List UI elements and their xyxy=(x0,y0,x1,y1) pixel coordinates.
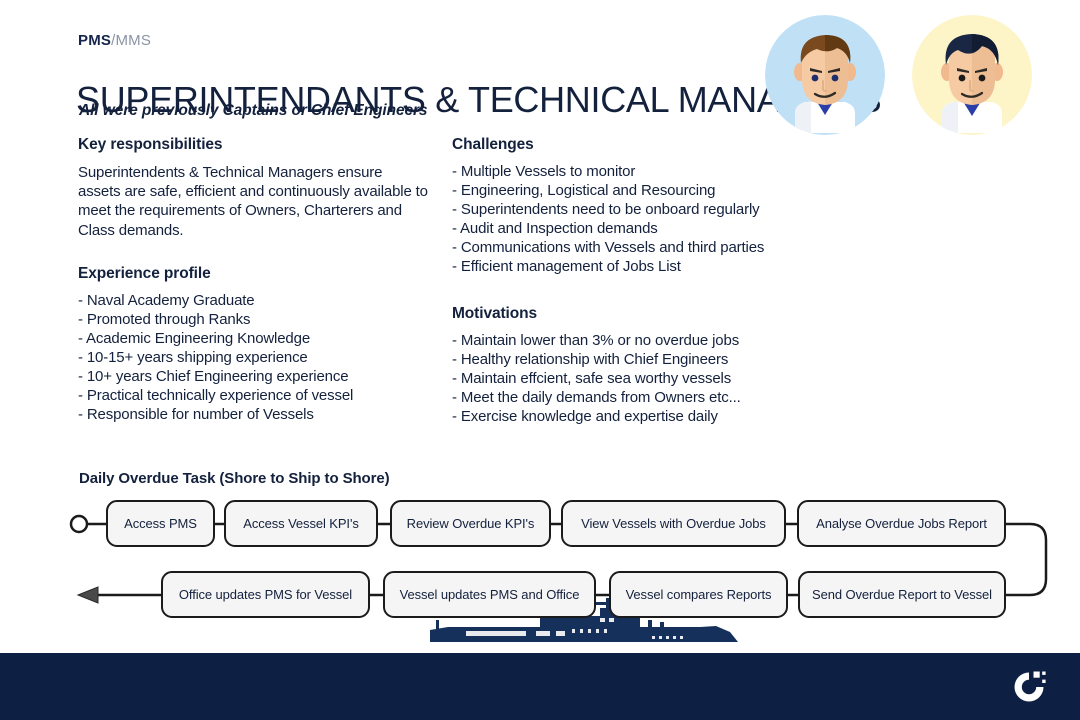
flow-node-analyse-overdue-report[interactable]: Analyse Overdue Jobs Report xyxy=(797,500,1006,547)
right-content-column: Challenges - Multiple Vessels to monitor… xyxy=(452,136,792,427)
experience-profile-heading: Experience profile xyxy=(78,265,428,283)
flow-node-office-updates-pms[interactable]: Office updates PMS for Vessel xyxy=(161,571,370,618)
flow-node-access-vessel-kpis[interactable]: Access Vessel KPI's xyxy=(224,500,378,547)
list-item: - Naval Academy Graduate xyxy=(78,292,428,311)
breadcrumb-mms: MMS xyxy=(115,32,151,49)
slide-root: PMS/MMS SUPERINTENDANTS & TECHNICAL MANA… xyxy=(0,0,1080,720)
list-item: - Practical technically experience of ve… xyxy=(78,387,428,406)
flow-node-vessel-compares[interactable]: Vessel compares Reports xyxy=(609,571,788,618)
list-item: - Promoted through Ranks xyxy=(78,311,428,330)
list-item: - Audit and Inspection demands xyxy=(452,220,792,239)
list-item: - 10-15+ years shipping experience xyxy=(78,349,428,368)
list-item: - Efficient management of Jobs List xyxy=(452,258,792,277)
flow-node-view-vessels-overdue[interactable]: View Vessels with Overdue Jobs xyxy=(561,500,786,547)
spacer xyxy=(452,277,792,305)
list-item: - Superintendents need to be onboard reg… xyxy=(452,201,792,220)
list-item: - Multiple Vessels to monitor xyxy=(452,163,792,182)
list-item: - Meet the daily demands from Owners etc… xyxy=(452,389,792,408)
footer-bar xyxy=(0,653,1080,720)
flow-node-access-pms[interactable]: Access PMS xyxy=(106,500,215,547)
flow-diagram-title: Daily Overdue Task (Shore to Ship to Sho… xyxy=(79,470,389,487)
page-subtitle: All were previously Captains or Chief En… xyxy=(79,102,427,120)
left-content-column: Key responsibilities Superintendents & T… xyxy=(78,136,428,425)
flow-node-vessel-updates-pms[interactable]: Vessel updates PMS and Office xyxy=(383,571,596,618)
flow-end-arrow xyxy=(78,587,98,603)
list-item: - Communications with Vessels and third … xyxy=(452,239,792,258)
list-item: - Maintain effcient, safe sea worthy ves… xyxy=(452,370,792,389)
avatar-graphic xyxy=(912,15,1032,135)
list-item: - 10+ years Chief Engineering experience xyxy=(78,368,428,387)
list-item: - Engineering, Logistical and Resourcing xyxy=(452,182,792,201)
spacer xyxy=(78,240,428,265)
flow-diagram: Access PMS Access Vessel KPI's Review Ov… xyxy=(0,490,1080,630)
breadcrumb-pms: PMS xyxy=(78,32,111,49)
list-item: - Healthy relationship with Chief Engine… xyxy=(452,351,792,370)
key-responsibilities-heading: Key responsibilities xyxy=(78,136,428,154)
flow-start-circle xyxy=(71,516,87,532)
avatar-graphic xyxy=(765,15,885,135)
challenges-list: - Multiple Vessels to monitor - Engineer… xyxy=(452,163,792,277)
brand-logo-icon xyxy=(1004,667,1050,707)
list-item: - Responsible for number of Vessels xyxy=(78,406,428,425)
motivations-heading: Motivations xyxy=(452,305,792,323)
flow-node-review-overdue-kpis[interactable]: Review Overdue KPI's xyxy=(390,500,551,547)
flow-node-send-overdue-report[interactable]: Send Overdue Report to Vessel xyxy=(798,571,1006,618)
avatar-male-brown-hair xyxy=(765,15,885,135)
motivations-list: - Maintain lower than 3% or no overdue j… xyxy=(452,332,792,427)
breadcrumb-pms-mms: PMS/MMS xyxy=(78,33,151,48)
key-responsibilities-body: Superintendents & Technical Managers ens… xyxy=(78,163,428,240)
avatar-male-dark-hair xyxy=(912,15,1032,135)
experience-profile-list: - Naval Academy Graduate - Promoted thro… xyxy=(78,292,428,425)
list-item: - Academic Engineering Knowledge xyxy=(78,330,428,349)
list-item: - Maintain lower than 3% or no overdue j… xyxy=(452,332,792,351)
challenges-heading: Challenges xyxy=(452,136,792,154)
list-item: - Exercise knowledge and expertise daily xyxy=(452,408,792,427)
